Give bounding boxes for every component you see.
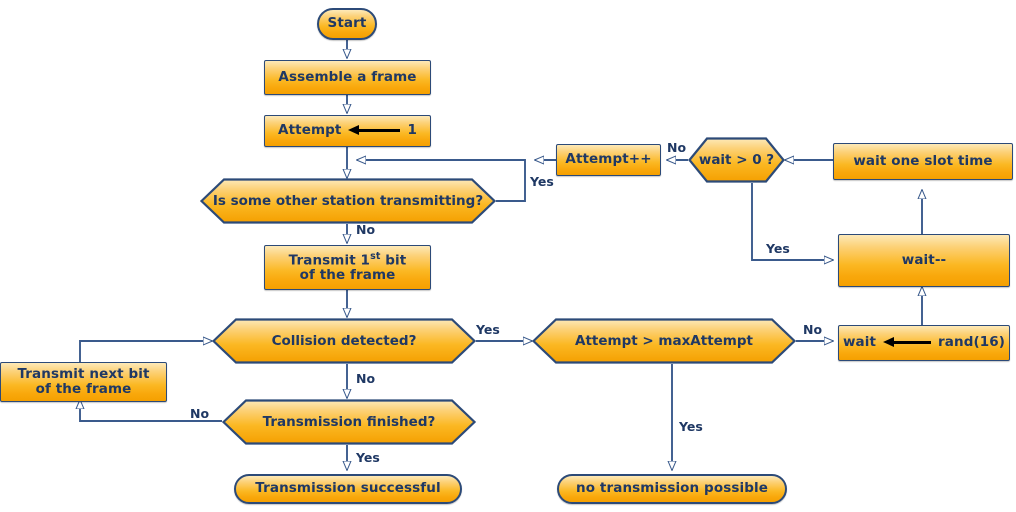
- node-assemble-a-frame-label: Assemble a frame: [278, 70, 416, 85]
- assignment-expression-wait: wait rand(16): [843, 335, 1005, 350]
- node-wait-decrement-label: wait--: [902, 253, 946, 268]
- assign-left-arrow-icon: [348, 125, 400, 136]
- node-transmit-first-bit[interactable]: Transmit 1st bit of the frame: [264, 245, 431, 290]
- node-wait-decrement[interactable]: wait--: [838, 234, 1010, 287]
- assignment-expression: Attempt 1: [278, 123, 417, 138]
- edge-label-collision-no: No: [356, 371, 375, 386]
- node-start[interactable]: Start: [317, 8, 377, 40]
- node-attempt-init-value: 1: [407, 123, 417, 138]
- edge-label-other-station-no: No: [356, 222, 375, 237]
- node-attempt-gt-maxattempt[interactable]: Attempt > maxAttempt: [532, 318, 796, 364]
- edge-label-other-station-yes: Yes: [530, 174, 554, 189]
- node-transmission-finished[interactable]: Transmission finished?: [222, 399, 476, 445]
- node-start-label: Start: [328, 16, 367, 31]
- node-collision-detected[interactable]: Collision detected?: [212, 318, 476, 364]
- node-assemble-a-frame[interactable]: Assemble a frame: [264, 60, 431, 95]
- edge-label-finished-yes: Yes: [356, 450, 380, 465]
- node-attempt-init-target: Attempt: [278, 123, 341, 138]
- edge-label-attempt-max-no: No: [803, 322, 822, 337]
- node-wait-assign-target: wait: [843, 335, 876, 350]
- node-wait-one-slot-time-label: wait one slot time: [853, 154, 992, 169]
- edge-label-collision-yes: Yes: [476, 322, 500, 337]
- node-wait-assign-rand[interactable]: wait rand(16): [838, 325, 1010, 361]
- node-transmit-first-bit-line2: of the frame: [300, 268, 396, 283]
- transmit-first-text: Transmit 1: [289, 252, 370, 268]
- node-wait-assign-value: rand(16): [938, 335, 1005, 350]
- node-transmit-next-bit-line1: Transmit next bit: [17, 367, 149, 382]
- node-no-transmission-possible[interactable]: no transmission possible: [557, 474, 787, 504]
- edge-label-attempt-max-yes: Yes: [679, 419, 703, 434]
- assign-left-arrow-icon: [883, 337, 931, 348]
- node-no-transmission-possible-label: no transmission possible: [576, 481, 768, 496]
- node-transmit-next-bit-line2: of the frame: [36, 382, 132, 397]
- edge-label-finished-no: No: [190, 406, 209, 421]
- transmit-first-superscript: st: [370, 251, 380, 262]
- node-attempt-init[interactable]: Attempt 1: [264, 115, 431, 147]
- node-transmit-first-bit-line1: Transmit 1st bit: [289, 252, 407, 269]
- transmit-first-text-b: bit: [380, 252, 406, 268]
- node-wait-gt-zero[interactable]: wait > 0 ?: [688, 137, 785, 183]
- flowchart-canvas: Start Assemble a frame Attempt 1 Is some…: [0, 0, 1016, 512]
- node-transmission-successful[interactable]: Transmission successful: [234, 474, 462, 504]
- edge-label-wait-gt-zero-no: No: [667, 140, 686, 155]
- node-is-some-other-station-transmitting[interactable]: Is some other station transmitting?: [200, 178, 496, 224]
- node-attempt-increment[interactable]: Attempt++: [556, 144, 661, 176]
- node-transmission-successful-label: Transmission successful: [255, 481, 440, 496]
- node-attempt-increment-label: Attempt++: [565, 152, 651, 167]
- node-transmit-next-bit[interactable]: Transmit next bit of the frame: [0, 362, 167, 402]
- node-wait-one-slot-time[interactable]: wait one slot time: [833, 143, 1013, 180]
- edge-label-wait-gt-zero-yes: Yes: [766, 241, 790, 256]
